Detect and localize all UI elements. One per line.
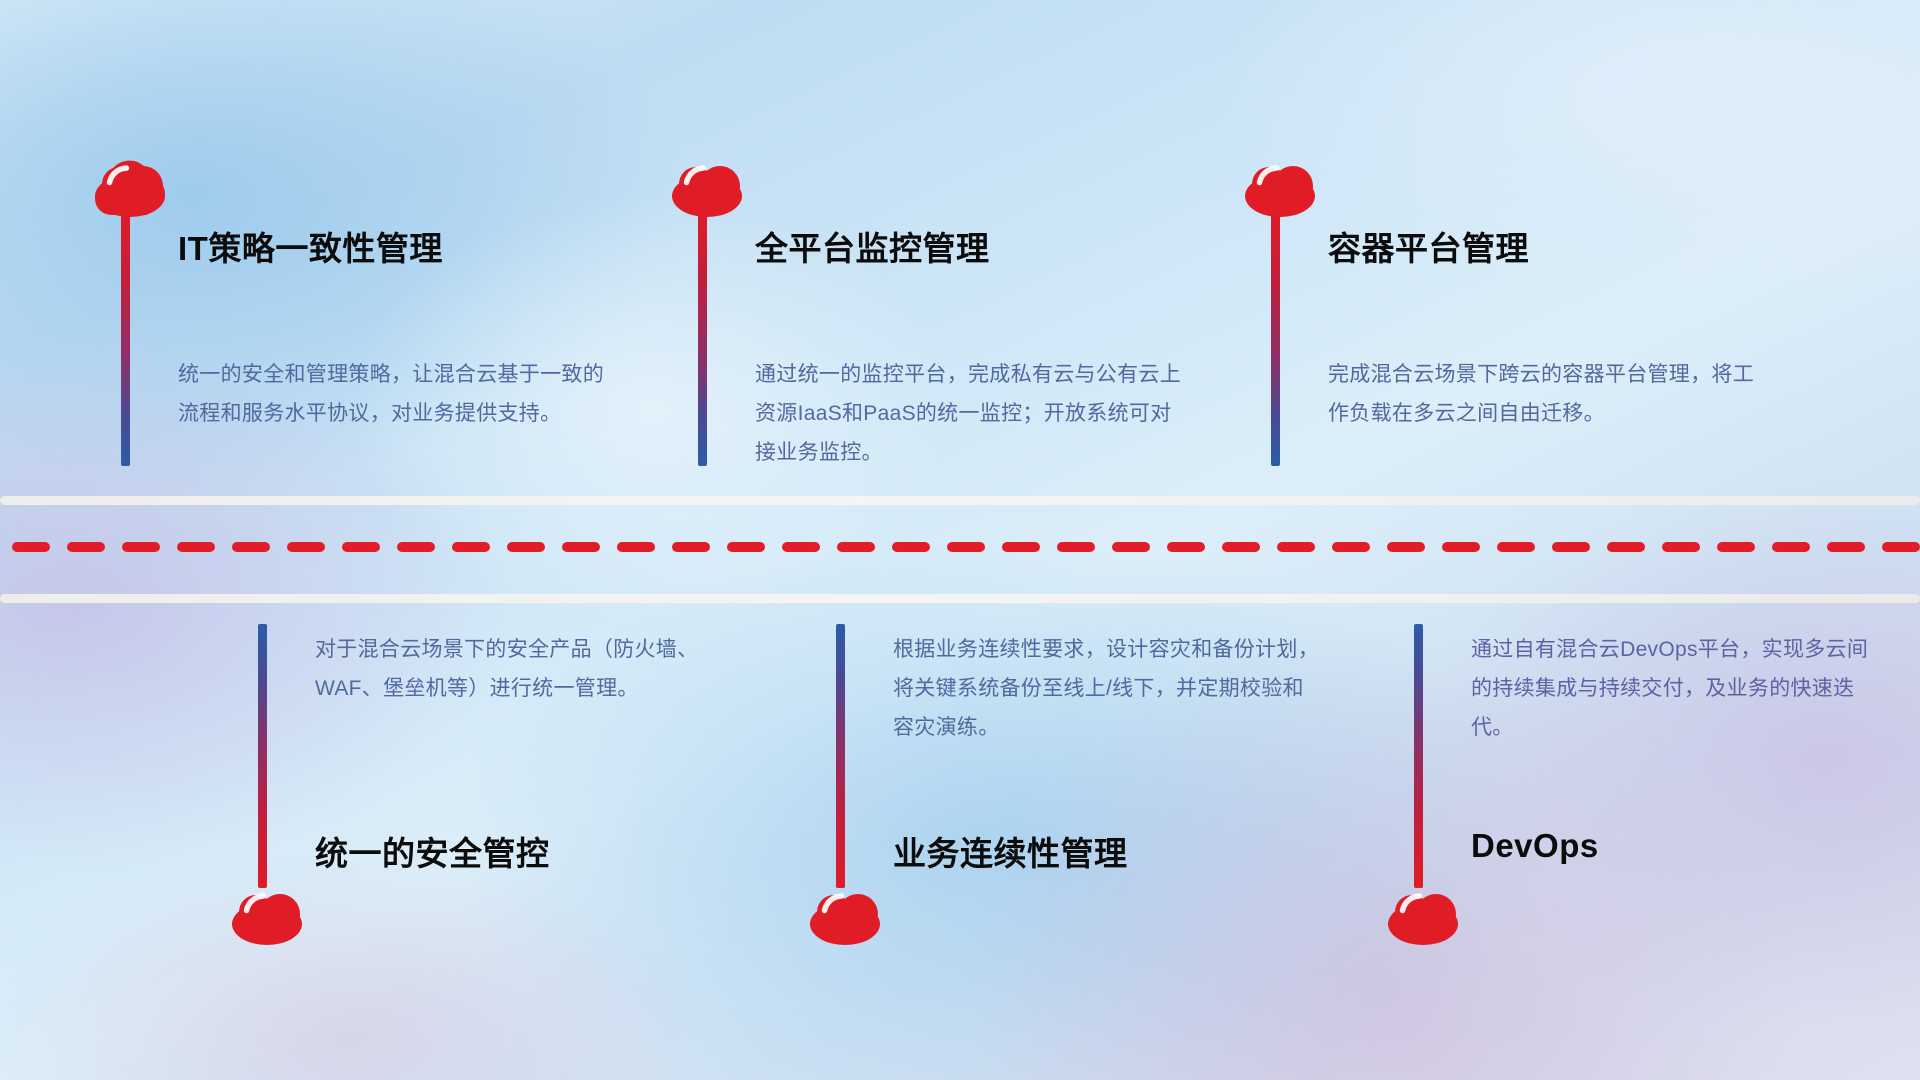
divider-dash bbox=[1827, 542, 1865, 552]
divider-dash bbox=[177, 542, 215, 552]
divider-dash bbox=[232, 542, 270, 552]
pin-stem bbox=[121, 212, 130, 466]
pin-body: 根据业务连续性要求，设计容灾和备份计划，将关键系统备份至线上/线下，并定期校验和… bbox=[893, 630, 1325, 747]
cloud-icon bbox=[1388, 888, 1458, 951]
divider-dash bbox=[1002, 542, 1040, 552]
divider-dash bbox=[562, 542, 600, 552]
divider-dash bbox=[452, 542, 490, 552]
pin-title: 业务连续性管理 bbox=[893, 827, 1128, 875]
cloud-icon bbox=[1245, 160, 1315, 223]
divider-rule-top bbox=[0, 496, 1920, 505]
divider-dash bbox=[1222, 542, 1260, 552]
divider-dash bbox=[122, 542, 160, 552]
pin-body: 完成混合云场景下跨云的容器平台管理，将工作负载在多云之间自由迁移。 bbox=[1328, 355, 1760, 433]
divider-dash bbox=[67, 542, 105, 552]
pin-title: IT策略一致性管理 bbox=[178, 222, 443, 270]
cloud-icon bbox=[810, 888, 880, 951]
divider-dash bbox=[397, 542, 435, 552]
divider-dash bbox=[1662, 542, 1700, 552]
divider-dash bbox=[617, 542, 655, 552]
divider-dash bbox=[837, 542, 875, 552]
pin-title: 容器平台管理 bbox=[1328, 222, 1529, 270]
pin-title: DevOps bbox=[1471, 827, 1599, 865]
divider-dash bbox=[1332, 542, 1370, 552]
divider-rule-bottom bbox=[0, 594, 1920, 603]
pin-stem bbox=[258, 624, 267, 888]
divider-dash bbox=[12, 542, 50, 552]
pin-body: 统一的安全和管理策略，让混合云基于一致的流程和服务水平协议，对业务提供支持。 bbox=[178, 355, 610, 433]
divider-dash bbox=[947, 542, 985, 552]
divider-dash bbox=[1607, 542, 1645, 552]
divider-dashed-line bbox=[0, 542, 1920, 552]
pin-title: 统一的安全管控 bbox=[315, 827, 550, 875]
divider-dash bbox=[1112, 542, 1150, 552]
divider-dash bbox=[1057, 542, 1095, 552]
divider-dash bbox=[1717, 542, 1755, 552]
pin-body: 通过统一的监控平台，完成私有云与公有云上资源IaaS和PaaS的统一监控；开放系… bbox=[755, 355, 1187, 472]
divider-dash bbox=[782, 542, 820, 552]
pin-stem bbox=[836, 624, 845, 888]
divider-dash bbox=[1882, 542, 1920, 552]
divider-dash bbox=[1167, 542, 1205, 552]
divider-dash bbox=[507, 542, 545, 552]
divider-dash bbox=[672, 542, 710, 552]
pin-stem bbox=[698, 212, 707, 466]
divider-dash bbox=[287, 542, 325, 552]
infographic-canvas: IT策略一致性管理 统一的安全和管理策略，让混合云基于一致的流程和服务水平协议，… bbox=[0, 0, 1920, 1080]
divider-dash bbox=[727, 542, 765, 552]
pin-stem bbox=[1414, 624, 1423, 888]
pin-body: 通过自有混合云DevOps平台，实现多云间的持续集成与持续交付，及业务的快速迭代… bbox=[1471, 630, 1871, 747]
pin-title: 全平台监控管理 bbox=[755, 222, 990, 270]
pin-body: 对于混合云场景下的安全产品（防火墙、WAF、堡垒机等）进行统一管理。 bbox=[315, 630, 747, 708]
pin-stem bbox=[1271, 212, 1280, 466]
divider-dash bbox=[1387, 542, 1425, 552]
divider-dash bbox=[1552, 542, 1590, 552]
divider-dash bbox=[1497, 542, 1535, 552]
cloud-icon bbox=[232, 888, 302, 951]
divider-dash bbox=[1277, 542, 1315, 552]
divider-dash bbox=[342, 542, 380, 552]
cloud-icon bbox=[95, 160, 165, 223]
divider-dash bbox=[1772, 542, 1810, 552]
divider-dash bbox=[1442, 542, 1480, 552]
cloud-icon bbox=[672, 160, 742, 223]
divider-dash bbox=[892, 542, 930, 552]
